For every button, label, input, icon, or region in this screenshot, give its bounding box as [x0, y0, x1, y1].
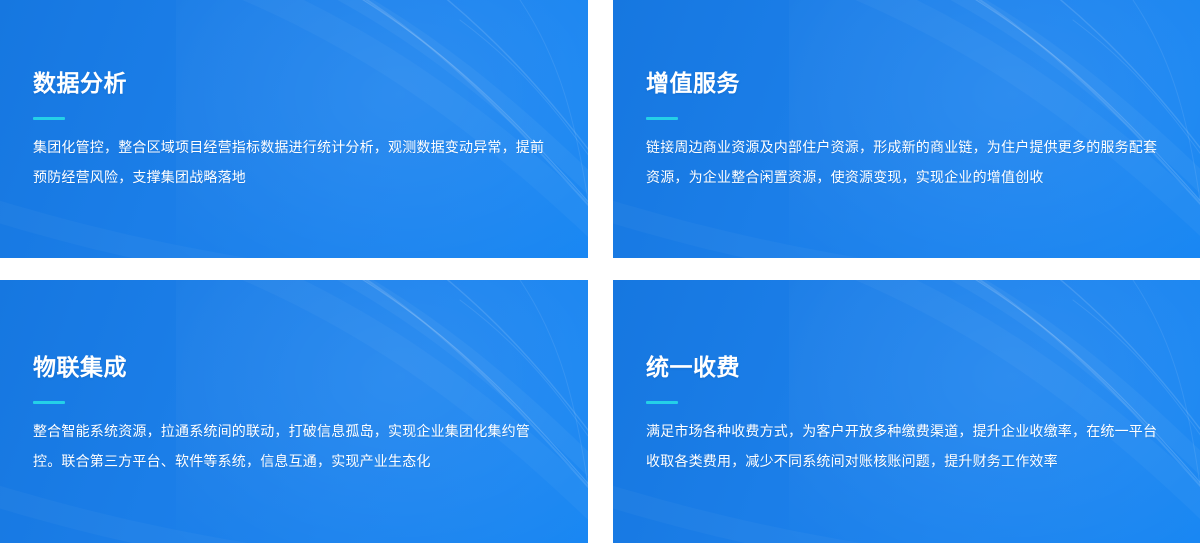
card-title: 数据分析: [33, 68, 554, 98]
accent-bar-icon: [646, 117, 678, 120]
card-description: 整合智能系统资源，拉通系统间的联动，打破信息孤岛，实现企业集团化集约管控。联合第…: [33, 416, 553, 476]
card-content: 数据分析 集团化管控，整合区域项目经营指标数据进行统计分析，观测数据变动异常，提…: [0, 0, 588, 192]
card-content: 增值服务 链接周边商业资源及内部住户资源，形成新的商业链，为住户提供更多的服务配…: [613, 0, 1200, 192]
feature-card-value-added-service[interactable]: 增值服务 链接周边商业资源及内部住户资源，形成新的商业链，为住户提供更多的服务配…: [613, 0, 1200, 258]
card-content: 物联集成 整合智能系统资源，拉通系统间的联动，打破信息孤岛，实现企业集团化集约管…: [0, 280, 588, 476]
card-description: 链接周边商业资源及内部住户资源，形成新的商业链，为住户提供更多的服务配套资源，为…: [646, 132, 1158, 192]
feature-card-unified-charging[interactable]: 统一收费 满足市场各种收费方式，为客户开放多种缴费渠道，提升企业收缴率，在统一平…: [613, 280, 1200, 543]
feature-card-grid: 数据分析 集团化管控，整合区域项目经营指标数据进行统计分析，观测数据变动异常，提…: [0, 0, 1200, 543]
card-title: 物联集成: [33, 352, 554, 382]
card-description: 满足市场各种收费方式，为客户开放多种缴费渠道，提升企业收缴率，在统一平台收取各类…: [646, 416, 1158, 476]
feature-card-data-analysis[interactable]: 数据分析 集团化管控，整合区域项目经营指标数据进行统计分析，观测数据变动异常，提…: [0, 0, 588, 258]
feature-card-iot-integration[interactable]: 物联集成 整合智能系统资源，拉通系统间的联动，打破信息孤岛，实现企业集团化集约管…: [0, 280, 588, 543]
card-content: 统一收费 满足市场各种收费方式，为客户开放多种缴费渠道，提升企业收缴率，在统一平…: [613, 280, 1200, 476]
card-description: 集团化管控，整合区域项目经营指标数据进行统计分析，观测数据变动异常，提前预防经营…: [33, 132, 553, 192]
card-title: 增值服务: [646, 68, 1166, 98]
accent-bar-icon: [646, 401, 678, 404]
card-title: 统一收费: [646, 352, 1166, 382]
accent-bar-icon: [33, 401, 65, 404]
accent-bar-icon: [33, 117, 65, 120]
